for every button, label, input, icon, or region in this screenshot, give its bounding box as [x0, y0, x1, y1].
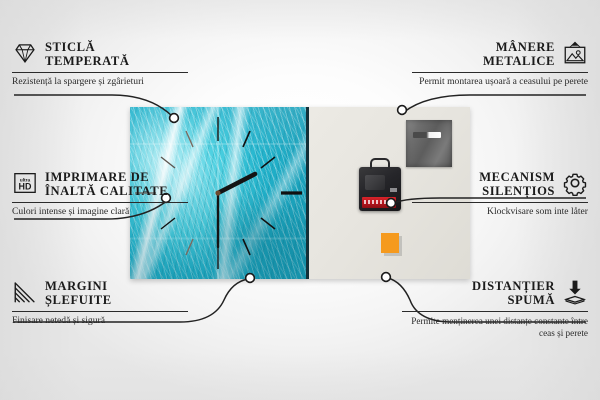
connector-glass — [14, 95, 172, 116]
hanging-picture-frame-icon — [562, 40, 588, 66]
callout-header: STICLĂ TEMPERATĂ — [12, 40, 188, 68]
callout-title-line1: DISTANȚIER — [472, 279, 555, 293]
callout-title-line1: IMPRIMARE DE — [45, 170, 149, 184]
callout-title-line1: STICLĂ — [45, 40, 95, 54]
callout-header: MARGINI ȘLEFUITE — [12, 279, 188, 307]
callout-subtitle: Permite menținerea unei distanțe constan… — [402, 315, 588, 339]
callout-divider — [402, 311, 588, 312]
callout-titles: MARGINI ȘLEFUITE — [45, 279, 112, 307]
endpoint-ring-handles — [398, 106, 407, 115]
callout-high-quality-print: ultra HD IMPRIMARE DE ÎNALTĂ CALITATE Cu… — [12, 170, 188, 219]
callout-polished-edges: MARGINI ȘLEFUITE Finisare netedă și sigu… — [12, 279, 188, 328]
endpoint-ring-edges — [246, 274, 255, 283]
callout-header: ultra HD IMPRIMARE DE ÎNALTĂ CALITATE — [12, 170, 188, 198]
callout-title-line1: MARGINI — [45, 279, 108, 293]
foam-spacer-press-icon — [562, 279, 588, 305]
callout-subtitle: Klockvisare som inte låter — [412, 206, 588, 219]
callout-title-line1: MECANISM — [479, 170, 555, 184]
diamond-icon — [12, 40, 38, 66]
callout-divider — [12, 311, 188, 312]
callout-metal-handles: MÂNERE METALICE Permit montarea ușoară a… — [412, 40, 588, 89]
polished-edge-lines-icon — [12, 279, 38, 305]
endpoint-ring-mechanism — [387, 199, 396, 208]
callout-titles: IMPRIMARE DE ÎNALTĂ CALITATE — [45, 170, 168, 198]
callout-titles: DISTANȚIER SPUMĂ — [472, 279, 555, 307]
callout-title-line2: METALICE — [483, 54, 555, 68]
callout-header: MECANISM SILENȚIOS — [412, 170, 588, 198]
infographic-canvas: STICLĂ TEMPERATĂ Rezistență la spargere … — [0, 0, 600, 400]
callout-silent-mechanism: MECANISM SILENȚIOS Klockvisare som inte … — [412, 170, 588, 219]
callout-subtitle: Finisare netedă și sigură — [12, 315, 188, 328]
callout-header: DISTANȚIER SPUMĂ — [402, 279, 588, 307]
callout-title-line2: SPUMĂ — [507, 293, 555, 307]
callout-divider — [12, 202, 188, 203]
endpoint-ring-spacer — [382, 273, 391, 282]
callout-title-line2: TEMPERATĂ — [45, 54, 129, 68]
callout-titles: MECANISM SILENȚIOS — [479, 170, 555, 198]
callout-titles: STICLĂ TEMPERATĂ — [45, 40, 129, 68]
callout-divider — [412, 72, 588, 73]
callout-foam-spacer: DISTANȚIER SPUMĂ Permite menținerea unei… — [402, 279, 588, 339]
callout-title-line1: MÂNERE — [496, 40, 555, 54]
callout-title-line2: ÎNALTĂ CALITATE — [45, 184, 168, 198]
callout-header: MÂNERE METALICE — [412, 40, 588, 68]
callout-subtitle: Rezistență la spargere și zgârieturi — [12, 76, 188, 89]
ultra-hd-large-text: HD — [19, 182, 32, 192]
endpoint-ring-glass — [170, 114, 179, 123]
callout-subtitle: Permit montarea ușoară a ceasului pe per… — [412, 76, 588, 89]
callout-tempered-glass: STICLĂ TEMPERATĂ Rezistență la spargere … — [12, 40, 188, 89]
callout-titles: MÂNERE METALICE — [483, 40, 555, 68]
callout-divider — [412, 202, 588, 203]
ultra-hd-badge-icon: ultra HD — [12, 170, 38, 196]
callout-title-line2: SILENȚIOS — [482, 184, 555, 198]
connector-handles — [404, 95, 586, 112]
gear-icon — [562, 170, 588, 196]
callout-divider — [12, 72, 188, 73]
callout-title-line2: ȘLEFUITE — [45, 293, 112, 307]
callout-subtitle: Culori intense și imagine clară — [12, 206, 188, 219]
